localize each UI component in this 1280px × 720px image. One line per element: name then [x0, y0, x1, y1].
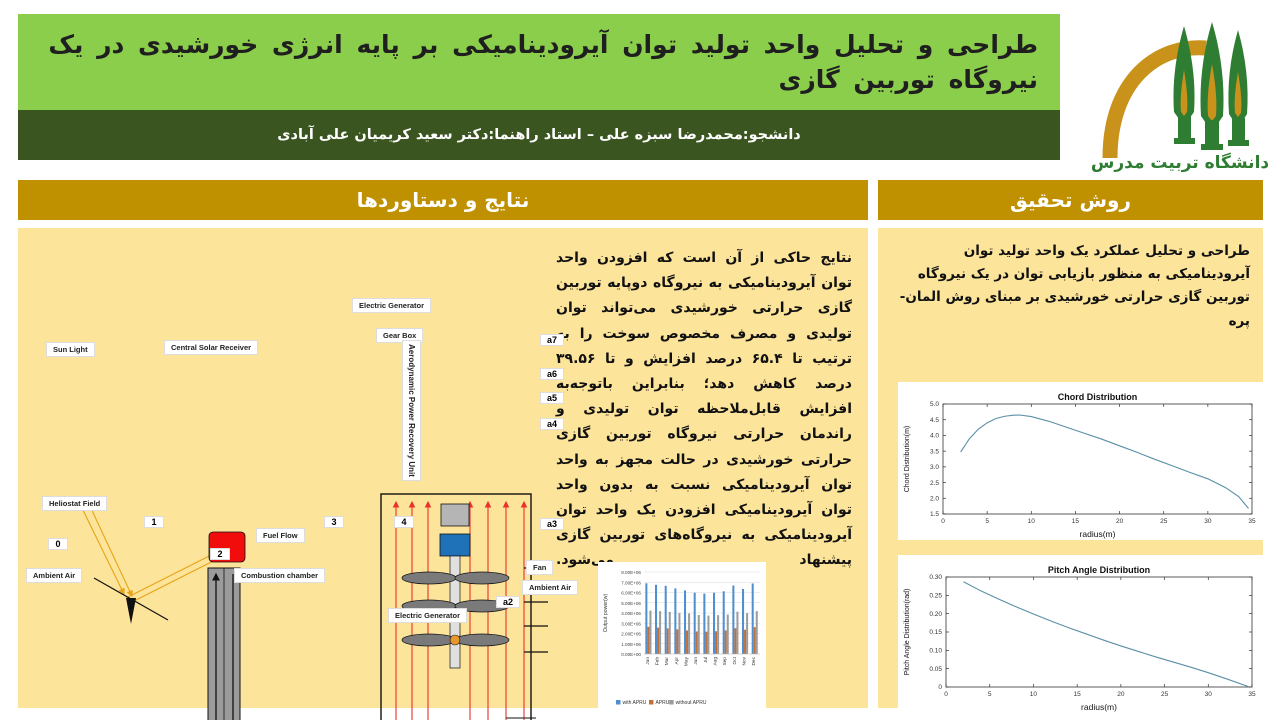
- station-0: 0: [48, 538, 68, 550]
- svg-text:0.20: 0.20: [929, 611, 942, 618]
- university-logo: دانشگاه تربیت مدرس: [1088, 8, 1268, 173]
- label-ambient-air-right: Ambient Air: [522, 580, 578, 595]
- svg-text:5: 5: [988, 691, 992, 698]
- svg-text:5: 5: [985, 518, 989, 525]
- svg-text:without APRU: without APRU: [676, 700, 707, 706]
- svg-text:Jan: Jan: [645, 657, 651, 665]
- svg-text:Pitch Angle Distribution(rad): Pitch Angle Distribution(rad): [904, 589, 911, 676]
- svg-text:0.05: 0.05: [929, 666, 942, 673]
- label-ambient-air-left: Ambient Air: [26, 568, 82, 583]
- station-a3: a3: [540, 518, 564, 530]
- svg-text:5.00E+06: 5.00E+06: [621, 601, 641, 606]
- svg-text:35: 35: [1248, 518, 1256, 525]
- svg-text:Chord Distribution: Chord Distribution: [1058, 392, 1138, 402]
- svg-text:3.5: 3.5: [930, 448, 939, 455]
- svg-text:دانشگاه تربیت مدرس: دانشگاه تربیت مدرس: [1091, 152, 1268, 173]
- svg-text:3.00E+06: 3.00E+06: [621, 621, 641, 626]
- svg-text:10: 10: [1028, 518, 1036, 525]
- svg-text:Chord Distribution(m): Chord Distribution(m): [904, 426, 911, 493]
- station-a7: a7: [540, 334, 564, 346]
- label-central-solar-receiver: Central Solar Receiver: [164, 340, 258, 355]
- svg-text:Oct: Oct: [732, 656, 738, 664]
- label-fuel-flow: Fuel Flow: [256, 528, 305, 543]
- svg-text:30: 30: [1205, 691, 1213, 698]
- svg-text:5.0: 5.0: [930, 401, 939, 408]
- svg-text:20: 20: [1116, 518, 1124, 525]
- svg-text:Feb: Feb: [655, 657, 661, 666]
- svg-text:1.00E+06: 1.00E+06: [621, 642, 641, 647]
- svg-text:APRU: APRU: [655, 700, 669, 706]
- svg-text:0.30: 0.30: [929, 574, 942, 581]
- section-heading-results: نتایج و دستاوردها: [18, 180, 868, 220]
- label-electric-generator-top: Electric Generator: [352, 298, 431, 313]
- station-2: 2: [210, 548, 230, 560]
- svg-text:radius(m): radius(m): [1080, 529, 1116, 539]
- section-heading-method: روش تحقیق: [878, 180, 1263, 220]
- svg-text:35: 35: [1248, 691, 1256, 698]
- svg-text:20: 20: [1117, 691, 1125, 698]
- svg-text:2.00E+06: 2.00E+06: [621, 632, 641, 637]
- label-sun-light: Sun Light: [46, 342, 95, 357]
- section-heading-method-label: روش تحقیق: [1010, 188, 1131, 212]
- station-a6: a6: [540, 368, 564, 380]
- label-combustion-chamber: Combustion chamber: [234, 568, 325, 583]
- station-1: 1: [144, 516, 164, 528]
- svg-text:3.0: 3.0: [930, 464, 939, 471]
- svg-text:2.0: 2.0: [930, 495, 939, 502]
- svg-text:Sep: Sep: [722, 657, 728, 666]
- station-a4: a4: [540, 418, 564, 430]
- svg-text:Output power(w): Output power(w): [603, 594, 609, 633]
- svg-text:6.00E+06: 6.00E+06: [621, 591, 641, 596]
- svg-text:0.15: 0.15: [929, 629, 942, 636]
- svg-text:4.5: 4.5: [930, 417, 939, 424]
- svg-text:4.00E+06: 4.00E+06: [621, 611, 641, 616]
- plant-schematic: Mixer: [36, 456, 576, 720]
- svg-text:Nov: Nov: [742, 656, 748, 665]
- page-title: طراحی و تحلیل واحد تولید توان آیرودینامی…: [38, 27, 1038, 98]
- section-heading-results-label: نتایج و دستاوردها: [357, 188, 530, 212]
- svg-text:Dec: Dec: [751, 656, 757, 665]
- svg-text:Apr: Apr: [674, 657, 680, 665]
- svg-text:with APRU: with APRU: [623, 700, 647, 706]
- svg-text:Mar: Mar: [664, 657, 670, 666]
- svg-text:10: 10: [1030, 691, 1038, 698]
- poster-canvas: طراحی و تحلیل واحد تولید توان آیرودینامی…: [0, 0, 1280, 720]
- monthly-output-power-chart: 0.00E+001.00E+062.00E+063.00E+064.00E+06…: [598, 562, 766, 712]
- svg-text:Jun: Jun: [693, 657, 699, 665]
- label-electric-generator-bottom: Electric Generator: [388, 608, 467, 623]
- station-3: 3: [324, 516, 344, 528]
- label-heliostat-field: Heliostat Field: [42, 496, 107, 511]
- svg-text:0: 0: [941, 518, 945, 525]
- svg-text:radius(m): radius(m): [1081, 702, 1117, 712]
- svg-text:0: 0: [938, 684, 942, 691]
- svg-text:Aug: Aug: [713, 657, 719, 666]
- svg-text:15: 15: [1074, 691, 1082, 698]
- svg-text:0.00E+00: 0.00E+00: [621, 652, 641, 657]
- results-body-text: نتایج حاکی از آن است که افزودن واحد توان…: [556, 246, 852, 573]
- svg-text:4.0: 4.0: [930, 433, 939, 440]
- svg-text:30: 30: [1204, 518, 1212, 525]
- author-line: دانشجو:محمدرضا سبزه علی – استاد راهنما:د…: [277, 127, 801, 143]
- label-apru: Aerodynamic Power Recovery Unit: [402, 340, 421, 481]
- svg-text:0.10: 0.10: [929, 648, 942, 655]
- svg-text:0.25: 0.25: [929, 593, 942, 600]
- label-fan: Fan: [526, 560, 553, 575]
- svg-text:1.5: 1.5: [930, 511, 939, 518]
- poster-author-band: دانشجو:محمدرضا سبزه علی – استاد راهنما:د…: [18, 110, 1060, 160]
- pitch-angle-chart: 0510152025303500.050.100.150.200.250.30P…: [898, 555, 1266, 713]
- station-4: 4: [394, 516, 414, 528]
- station-a5: a5: [540, 392, 564, 404]
- svg-text:Jul: Jul: [703, 657, 709, 663]
- svg-text:0: 0: [944, 691, 948, 698]
- svg-text:May: May: [684, 656, 690, 666]
- svg-text:15: 15: [1072, 518, 1080, 525]
- poster-title-band: طراحی و تحلیل واحد تولید توان آیرودینامی…: [18, 14, 1060, 110]
- method-body-text: طراحی و تحلیل عملکرد یک واحد تولید توان …: [890, 240, 1250, 333]
- svg-text:25: 25: [1160, 518, 1168, 525]
- svg-text:7.00E+06: 7.00E+06: [621, 580, 641, 585]
- svg-text:2.5: 2.5: [930, 480, 939, 487]
- svg-text:Pitch Angle Distribution: Pitch Angle Distribution: [1048, 565, 1150, 575]
- chord-distribution-chart: 051015202530351.52.02.53.03.54.04.55.0Ch…: [898, 382, 1266, 540]
- svg-text:25: 25: [1161, 691, 1169, 698]
- svg-text:8.00E+06: 8.00E+06: [621, 570, 641, 575]
- station-a2: a2: [496, 596, 520, 608]
